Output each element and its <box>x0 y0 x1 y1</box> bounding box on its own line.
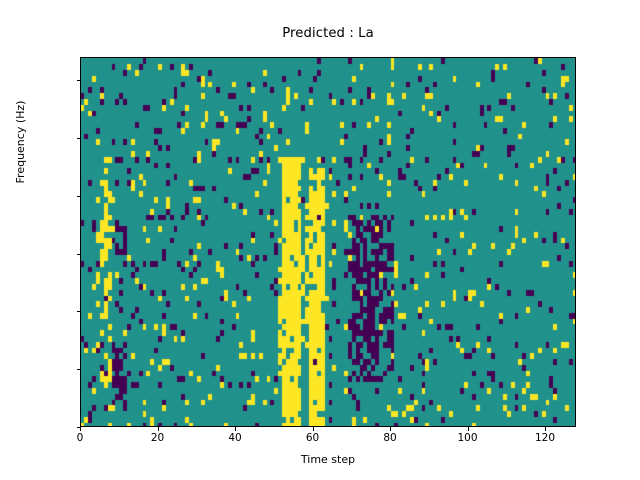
x-tick-mark <box>80 427 81 431</box>
matplotlib-figure: Predicted : La 0200004000060000800001000… <box>0 0 640 480</box>
x-tick-label: 120 <box>535 432 555 444</box>
heatmap-axes <box>80 57 576 427</box>
x-tick-mark <box>158 427 159 431</box>
x-tick-mark <box>313 427 314 431</box>
y-tick-mark <box>77 80 81 81</box>
heatmap-image <box>81 58 576 427</box>
x-tick-mark <box>390 427 391 431</box>
x-axis-tick-labels: 020406080100120 <box>0 432 640 452</box>
y-tick-mark <box>77 311 81 312</box>
x-tick-mark <box>468 427 469 431</box>
y-axis-tick-labels: 020000400006000080000100000120000 <box>0 0 72 480</box>
x-tick-label: 40 <box>228 432 241 444</box>
x-tick-label: 20 <box>151 432 164 444</box>
y-tick-mark <box>77 369 81 370</box>
x-tick-mark <box>545 427 546 431</box>
page-title: Predicted : La <box>80 26 576 41</box>
y-axis-tick-marks <box>80 57 81 427</box>
x-tick-label: 0 <box>77 432 84 444</box>
y-tick-mark <box>77 138 81 139</box>
x-tick-mark <box>235 427 236 431</box>
y-tick-mark <box>77 254 81 255</box>
x-tick-label: 80 <box>383 432 396 444</box>
y-axis-label: Frequency (Hz) <box>14 42 27 242</box>
x-axis-tick-marks <box>80 427 576 431</box>
x-tick-label: 100 <box>457 432 477 444</box>
x-tick-label: 60 <box>306 432 319 444</box>
y-tick-mark <box>77 196 81 197</box>
x-axis-label: Time step <box>80 453 576 466</box>
